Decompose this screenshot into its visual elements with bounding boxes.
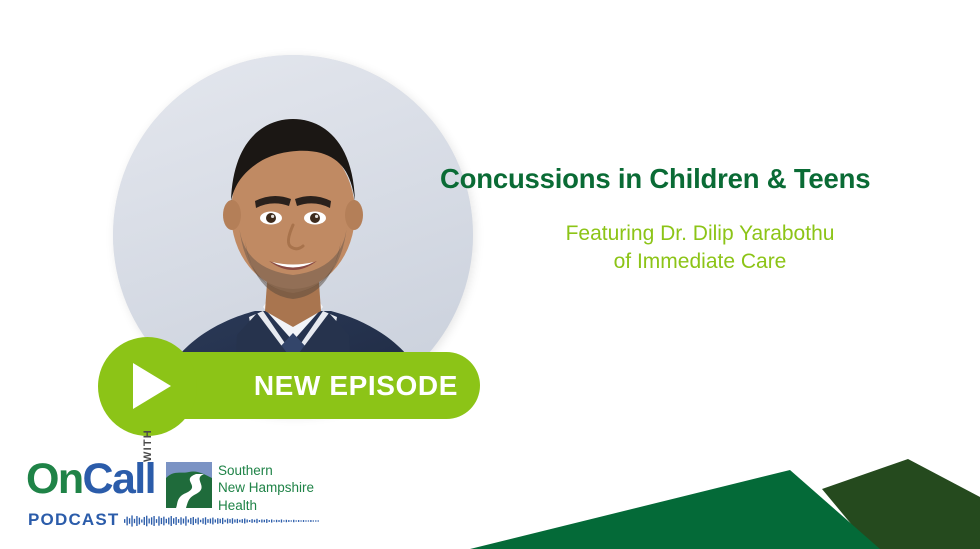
new-episode-badge[interactable]: NEW EPISODE xyxy=(148,352,480,419)
podcast-label: PODCAST xyxy=(28,510,120,530)
brand-line-2: New Hampshire xyxy=(218,479,314,496)
snh-health-brand-text: Southern New Hampshire Health xyxy=(218,462,314,514)
light-green-shape xyxy=(470,470,880,549)
snh-health-logo-mark xyxy=(166,462,212,508)
oncall-podcast-logo: OnCall WITH Southern New Hampshire Healt… xyxy=(26,458,326,540)
oncall-wordmark: OnCall xyxy=(26,458,155,501)
new-episode-label: NEW EPISODE xyxy=(148,352,480,419)
promo-graphic: Concussions in Children & Teens Featurin… xyxy=(0,0,980,549)
with-label: WITH xyxy=(142,422,182,462)
subtitle-line-2: of Immediate Care xyxy=(440,248,960,276)
episode-title: Concussions in Children & Teens xyxy=(440,163,960,195)
brand-line-1: Southern xyxy=(218,462,314,479)
audio-waveform-icon xyxy=(124,510,320,532)
wordmark-on: On xyxy=(26,455,83,503)
dark-green-shape xyxy=(822,459,980,549)
episode-subtitle: Featuring Dr. Dilip Yarabothu of Immedia… xyxy=(440,220,960,276)
subtitle-line-1: Featuring Dr. Dilip Yarabothu xyxy=(440,220,960,248)
play-icon xyxy=(133,363,171,409)
wordmark-call: Call xyxy=(83,455,155,503)
